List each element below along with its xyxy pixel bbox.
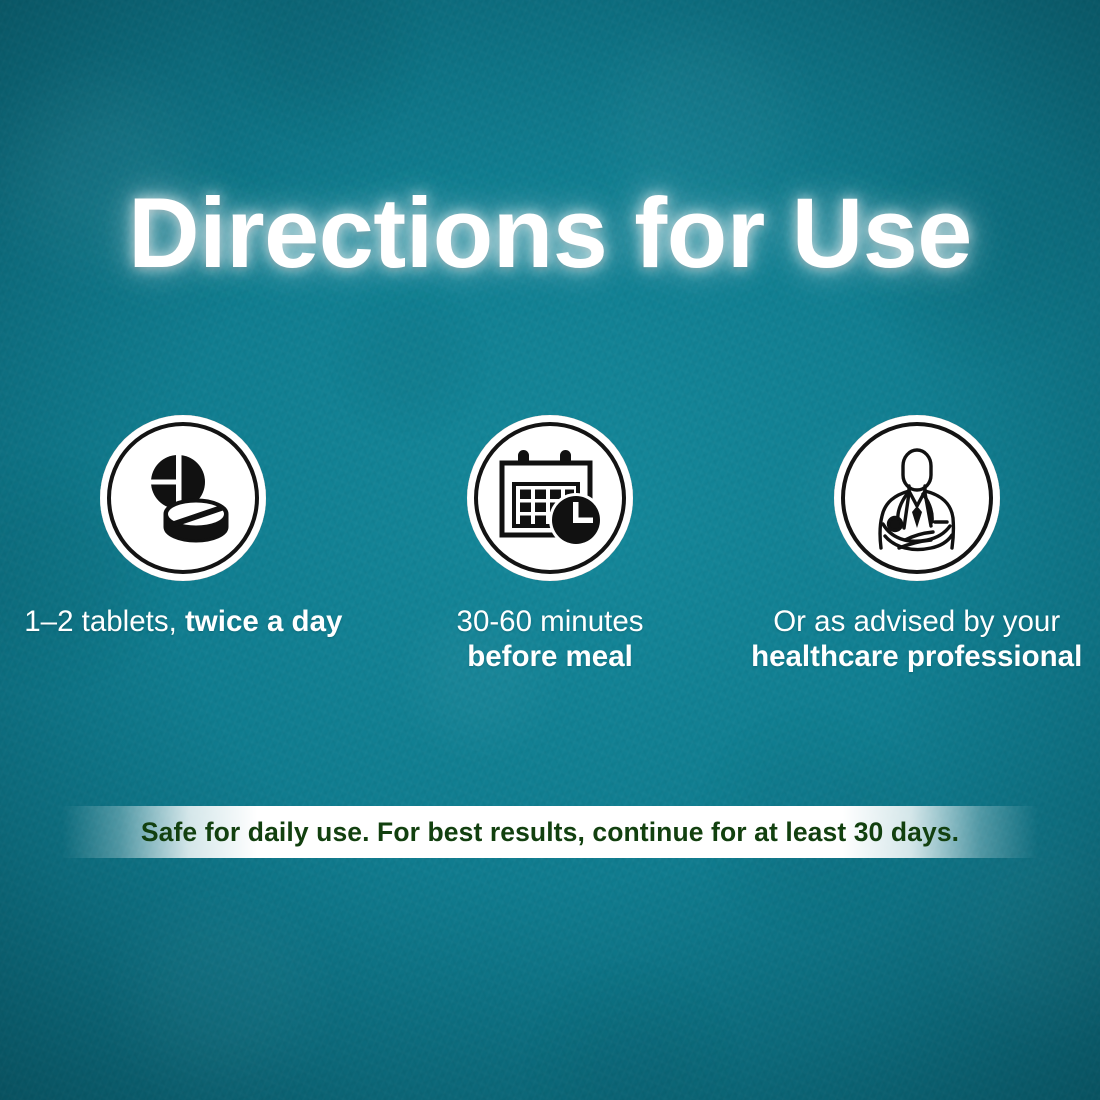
step-advice: Or as advised by your healthcare profess… bbox=[733, 415, 1100, 674]
footer-banner-text: Safe for daily use. For best results, co… bbox=[141, 817, 959, 848]
calendar-clock-badge bbox=[467, 415, 633, 581]
step-timing: 30-60 minutes before meal bbox=[367, 415, 734, 674]
step-advice-line2: healthcare professional bbox=[751, 640, 1082, 675]
step-dosage-line1: 1–2 tablets, twice a day bbox=[24, 605, 342, 640]
calendar-clock-icon bbox=[488, 436, 612, 560]
step-advice-caption: Or as advised by your healthcare profess… bbox=[751, 605, 1082, 674]
step-timing-caption: 30-60 minutes before meal bbox=[457, 605, 644, 674]
step-timing-line2: before meal bbox=[457, 640, 644, 675]
step-timing-line1: 30-60 minutes bbox=[457, 605, 644, 640]
step-dosage-caption: 1–2 tablets, twice a day bbox=[24, 605, 342, 640]
steps-row: 1–2 tablets, twice a day bbox=[0, 415, 1100, 674]
doctor-badge bbox=[834, 415, 1000, 581]
step-dosage-regular: 1–2 tablets, bbox=[24, 605, 185, 638]
step-advice-line1: Or as advised by your bbox=[751, 605, 1082, 640]
footer-banner: Safe for daily use. For best results, co… bbox=[62, 806, 1038, 858]
tablets-badge bbox=[100, 415, 266, 581]
directions-for-use-poster: Directions for Use bbox=[0, 0, 1100, 1100]
page-title: Directions for Use bbox=[0, 183, 1100, 282]
step-dosage-bold: twice a day bbox=[185, 605, 342, 638]
doctor-icon bbox=[855, 436, 979, 560]
tablets-icon bbox=[121, 436, 245, 560]
step-dosage: 1–2 tablets, twice a day bbox=[0, 415, 367, 674]
